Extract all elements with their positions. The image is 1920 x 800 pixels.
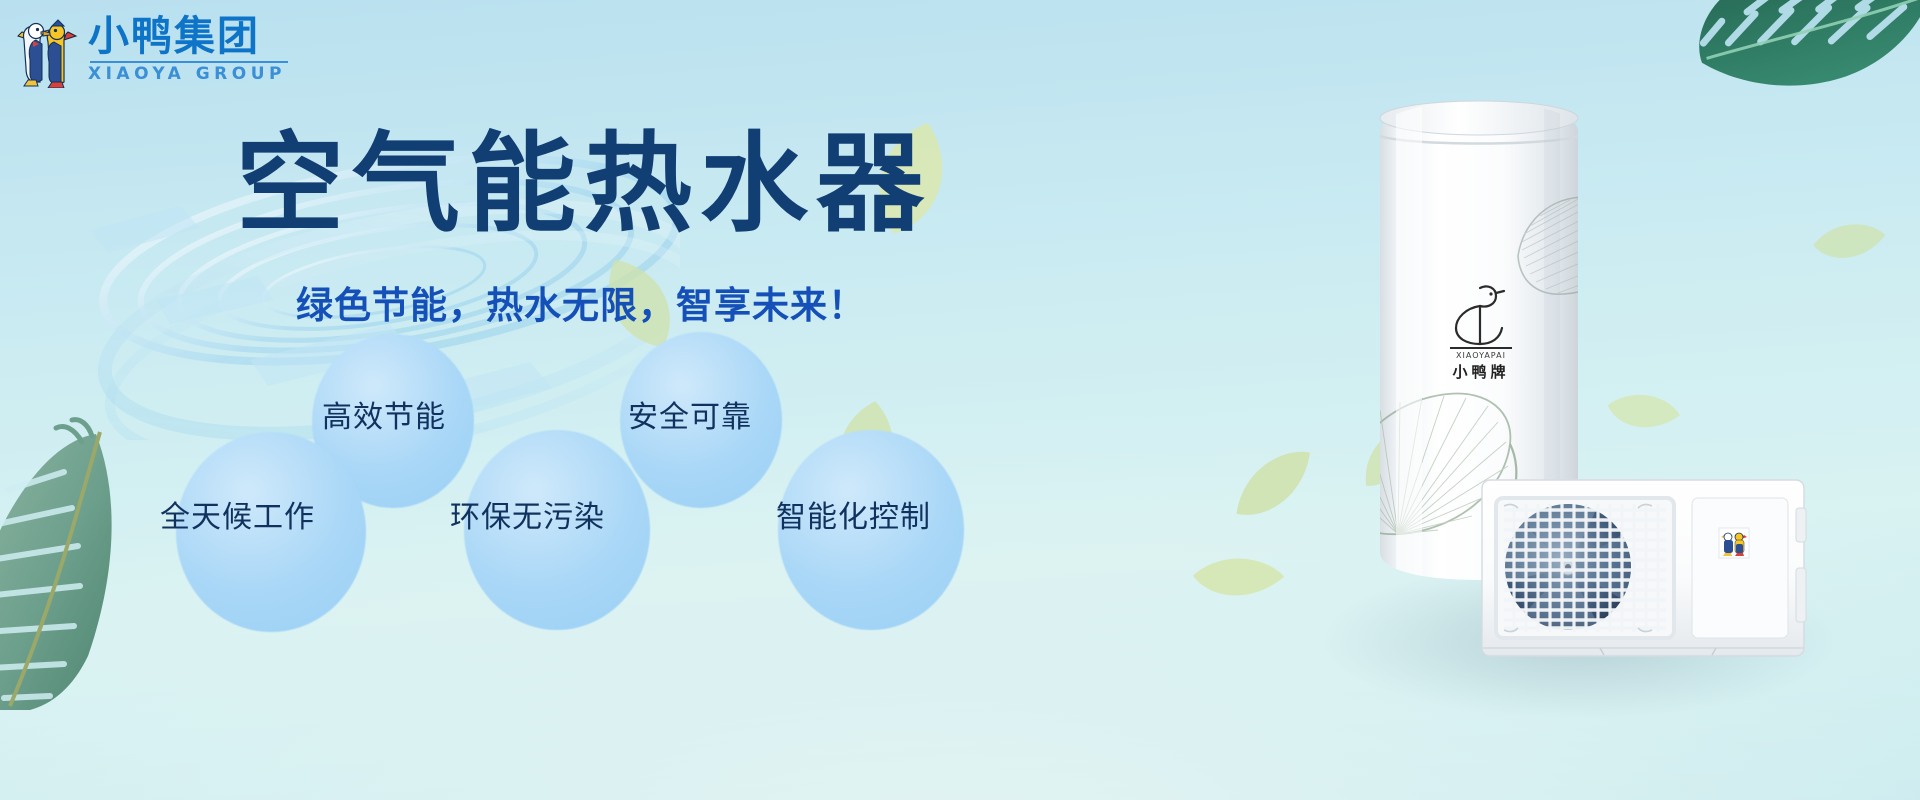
logo-chinese-name: 小鸭集团 [88,16,286,57]
logo-english-name: XIAOYA GROUP [88,66,286,83]
brand-logo[interactable]: 小鸭集团 XIAOYA GROUP [16,10,286,88]
feature-label-all-weather: 全天候工作 [160,492,315,536]
pale-leaf-decor-9 [1809,211,1890,273]
promo-banner: 小鸭集团 XIAOYA GROUP 空气能热水器 绿色节能，热水无限，智享未来！… [0,0,1920,800]
pale-leaf-decor-7 [1599,373,1688,451]
pale-leaf-decor-4 [1217,435,1332,534]
heat-pump-outdoor-unit [1480,472,1810,662]
feature-label-high-efficiency: 高效节能 [322,392,446,436]
feature-label-smart-control: 智能化控制 [776,492,931,536]
monstera-leaf-icon [1630,0,1920,210]
two-duck-mascots-icon [16,10,78,88]
banana-leaf-icon [0,410,180,710]
duck-mascot-sticker-icon [1719,528,1749,558]
feature-label-safe-reliable: 安全可靠 [628,392,752,436]
logo-divider [90,61,288,63]
page-subtitle: 绿色节能，热水无限，智享未来！ [296,275,866,329]
feature-label-eco-friendly: 环保无污染 [450,492,605,536]
page-title: 空气能热水器 [236,128,932,241]
pale-leaf-decor-5 [1186,536,1291,619]
tank-brand-cn: 小鸭牌 [1452,363,1509,381]
tank-brand-en: XIAOYAPAI [1456,351,1506,360]
